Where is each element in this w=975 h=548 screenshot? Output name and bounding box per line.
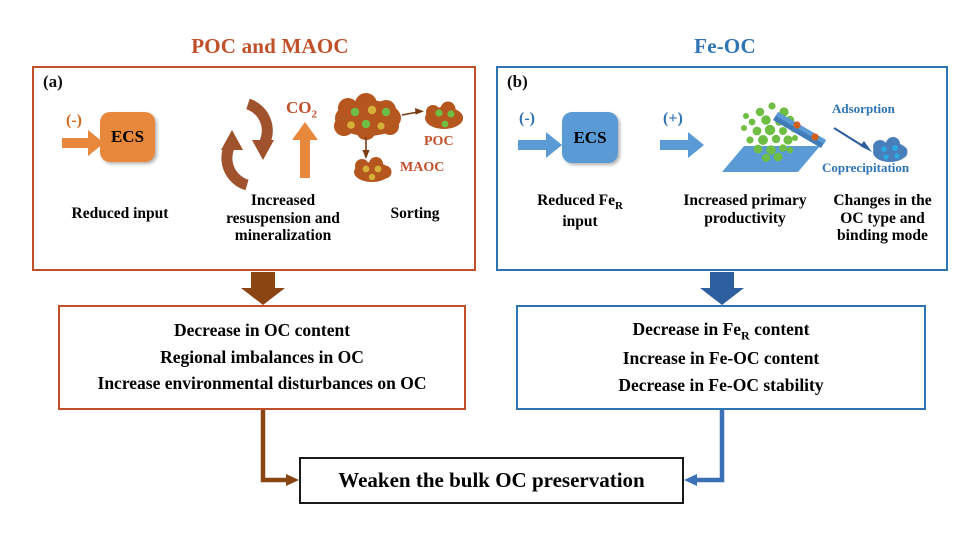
arrow-panel-a-to-result xyxy=(241,272,285,305)
result-left-line-2: Regional imbalances in OC xyxy=(160,349,364,367)
result-right-line-2: Increase in Fe-OC content xyxy=(623,350,820,368)
elbow-arrow-left xyxy=(263,410,299,486)
conclusion-box: Weaken the bulk OC preservation xyxy=(299,457,684,504)
conclusion-text: Weaken the bulk OC preservation xyxy=(338,468,644,493)
result-right-line-1-sub: R xyxy=(741,328,750,342)
result-right-line-1-post: content xyxy=(750,319,810,339)
result-right-line-1: Decrease in FeR content xyxy=(633,321,810,342)
result-right-line-2-pre: Increase in Fe-OC content xyxy=(623,348,820,368)
arrow-panel-b-to-result xyxy=(700,272,744,305)
result-right-line-3: Decrease in Fe-OC stability xyxy=(618,377,823,395)
result-right-line-1-pre: Decrease in Fe xyxy=(633,319,742,339)
result-box-left: Decrease in OC content Regional imbalanc… xyxy=(58,305,466,410)
result-right-line-3-pre: Decrease in Fe-OC stability xyxy=(618,375,823,395)
result-left-line-3: Increase environmental disturbances on O… xyxy=(98,375,427,393)
elbow-arrow-right xyxy=(684,410,722,486)
result-box-right: Decrease in FeR content Increase in Fe-O… xyxy=(516,305,926,410)
figure-canvas: POC and MAOC Fe-OC (a) (-) xyxy=(0,0,975,548)
result-left-line-1: Decrease in OC content xyxy=(174,322,350,340)
